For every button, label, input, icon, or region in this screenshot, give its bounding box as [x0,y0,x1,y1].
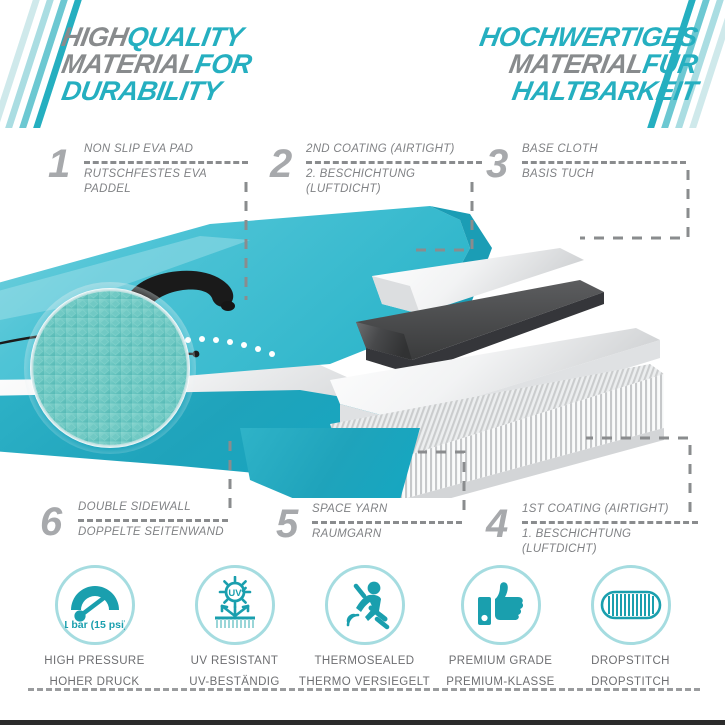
callout-2-label-en: 2ND COATING (AIRTIGHT) [306,142,482,158]
feature-dropstitch-label-de: DROPSTITCH [558,676,703,688]
callout-5-label-en: SPACE YARN [312,502,462,518]
callout-1-body: NON SLIP EVA PAD RUTSCHFESTES EVA PADDEL [84,142,248,198]
headline-de-line1: HOCHWERTIGES [478,24,700,51]
callout-1-number: 1 [48,144,70,184]
callout-6-body: DOUBLE SIDEWALL DOPPELTE SEITENWAND [78,500,228,540]
feature-uv-resistant-circle: UV [195,565,275,645]
callout-4-body: 1ST COATING (AIRTIGHT) 1. BESCHICHTUNG (… [522,502,698,558]
callout-3-label-de: BASIS TUCH [522,167,686,183]
uv-sun-icon: UV [206,576,264,634]
callout-1-divider [84,161,248,164]
pressure-gauge-icon: 1 bar (15 psi) [65,576,125,634]
board-bottom-skin-teal [240,428,420,498]
slip-resistant-person-icon [337,577,393,633]
callout-5-body: SPACE YARN RAUMGARN [312,502,462,542]
headline-en-line1-b: QUALITY [125,22,245,52]
feature-high-pressure-label-en: HIGH PRESSURE [22,655,167,667]
headline-de-line1-a: HOCHWERTIGES [477,22,699,52]
headline-de-line3: HALTBARKEIT [478,78,700,105]
headline-en-line2-b: FOR [193,49,254,79]
callout-6-label-en: DOUBLE SIDEWALL [78,500,228,516]
feature-high-pressure[interactable]: 1 bar (15 psi) HIGH PRESSURE HOHER DRUCK [22,565,167,688]
headline-en-line3: DURABILITY [60,78,254,105]
dropstitch-icon [600,588,662,622]
feature-premium-grade-label-en: PREMIUM GRADE [428,655,573,667]
thumbs-up-icon [474,579,528,631]
callout-4-divider [522,521,698,524]
feature-thermosealed[interactable]: THERMOSEALED THERMO VERSIEGELT [292,565,437,688]
headline-de-line3-a: HALTBARKEIT [510,76,700,106]
headline-en-line1: HIGHQUALITY [60,24,254,51]
callout-4-label-en: 1ST COATING (AIRTIGHT) [522,502,698,518]
feature-uv-resistant[interactable]: UV [162,565,307,688]
callout-5-number: 5 [276,504,298,544]
callout-1-label-en: NON SLIP EVA PAD [84,142,248,158]
callout-5-label-de: RAUMGARN [312,527,462,543]
headline-de-line2-b: FÜR [640,49,699,79]
feature-uv-resistant-label-de: UV-BESTÄNDIG [162,676,307,688]
feature-high-pressure-label-de: HOHER DRUCK [22,676,167,688]
callout-4-label-de: 1. BESCHICHTUNG (LUFTDICHT) [522,527,698,558]
callout-2-label-de: 2. BESCHICHTUNG (LUFTDICHT) [306,167,482,198]
headline-en-line2: MATERIALFOR [60,51,254,78]
feature-dropstitch-circle [591,565,671,645]
uv-icon-text: UV [228,588,242,599]
callout-1-label-de: RUTSCHFESTES EVA PADDEL [84,167,248,198]
feature-row: 1 bar (15 psi) HIGH PRESSURE HOHER DRUCK… [0,565,725,720]
callout-3-divider [522,161,686,164]
callout-6-label-de: DOPPELTE SEITENWAND [78,525,228,541]
feature-dropstitch[interactable]: DROPSTITCH DROPSTITCH [558,565,703,688]
callout-3-number: 3 [486,144,508,184]
carry-handle-anchor [221,301,235,311]
callout-5-divider [312,521,462,524]
pressure-gauge-value: 1 bar (15 psi) [65,619,125,631]
headline-en-line2-a: MATERIAL [59,49,198,79]
feature-thermosealed-label-de: THERMO VERSIEGELT [292,676,437,688]
feature-thermosealed-label-en: THERMOSEALED [292,655,437,667]
feature-uv-resistant-label-en: UV RESISTANT [162,655,307,667]
callout-3-body: BASE CLOTH BASIS TUCH [522,142,686,182]
headline-en-line1-a: HIGH [59,22,130,52]
callout-2-divider [306,161,482,164]
feature-premium-grade[interactable]: PREMIUM GRADE PREMIUM-KLASSE [428,565,573,688]
callout-2-number: 2 [270,144,292,184]
feature-premium-grade-label-de: PREMIUM-KLASSE [428,676,573,688]
headline-de-line2-a: MATERIAL [507,49,646,79]
feature-premium-grade-circle [461,565,541,645]
feature-high-pressure-circle: 1 bar (15 psi) [55,565,135,645]
callout-2-body: 2ND COATING (AIRTIGHT) 2. BESCHICHTUNG (… [306,142,482,198]
callout-3-label-en: BASE CLOTH [522,142,686,158]
callout-4-number: 4 [486,504,508,544]
callout-6-number: 6 [40,502,62,542]
callout-6-divider [78,519,228,522]
headline-en-line3-a: DURABILITY [59,76,223,106]
headline-english: HIGHQUALITY MATERIALFOR DURABILITY [62,24,251,105]
headline-de-line2: MATERIALFÜR [478,51,700,78]
header-banner: HIGHQUALITY MATERIALFOR DURABILITY HOCHW… [0,0,725,128]
infographic-root: HIGHQUALITY MATERIALFOR DURABILITY HOCHW… [0,0,725,725]
headline-german: HOCHWERTIGES MATERIALFÜR HALTBARKEIT [480,24,697,105]
feature-thermosealed-circle [325,565,405,645]
feature-dropstitch-label-en: DROPSTITCH [558,655,703,667]
